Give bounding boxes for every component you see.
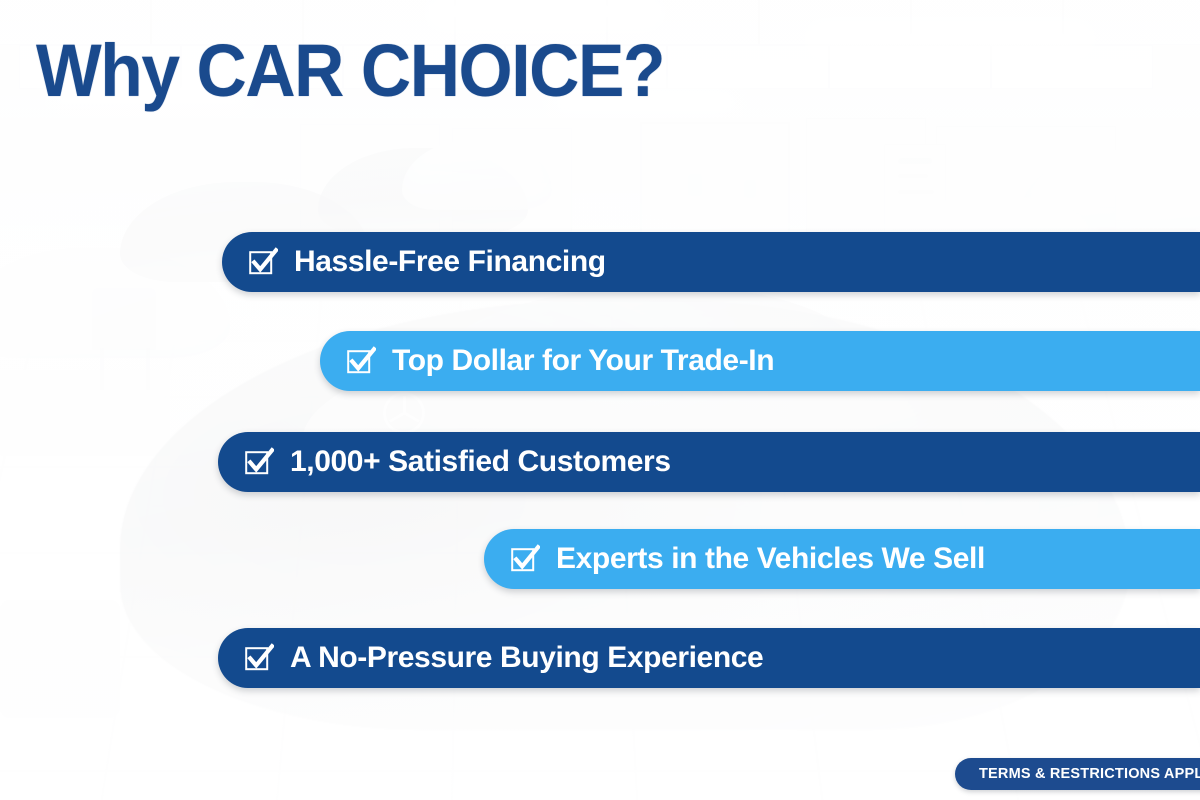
- feature-pill-satisfied-customers[interactable]: 1,000+ Satisfied Customers: [218, 432, 1200, 492]
- terms-label: TERMS & RESTRICTIONS APPLY: [979, 766, 1200, 782]
- checkbox-checked-icon: [244, 447, 274, 477]
- promo-banner: Why CAR CHOICE? Hassle-Free Financing To…: [0, 0, 1200, 800]
- checkbox-checked-icon: [244, 643, 274, 673]
- feature-pill-label: Top Dollar for Your Trade-In: [392, 346, 774, 376]
- feature-pill-no-pressure-buying[interactable]: A No-Pressure Buying Experience: [218, 628, 1200, 688]
- feature-pill-label: Hassle-Free Financing: [294, 247, 606, 277]
- feature-pill-label: A No-Pressure Buying Experience: [290, 643, 763, 673]
- feature-pill-label: 1,000+ Satisfied Customers: [290, 447, 671, 477]
- feature-pill-experts-in-vehicles[interactable]: Experts in the Vehicles We Sell: [484, 529, 1200, 589]
- checkbox-checked-icon: [346, 346, 376, 376]
- page-title: Why CAR CHOICE?: [36, 34, 664, 108]
- feature-pill-hassle-free-financing[interactable]: Hassle-Free Financing: [222, 232, 1200, 292]
- feature-pill-top-dollar-trade-in[interactable]: Top Dollar for Your Trade-In: [320, 331, 1200, 391]
- terms-and-restrictions-badge[interactable]: TERMS & RESTRICTIONS APPLY: [955, 758, 1200, 790]
- checkbox-checked-icon: [248, 247, 278, 277]
- feature-pill-label: Experts in the Vehicles We Sell: [556, 544, 985, 574]
- checkbox-checked-icon: [510, 544, 540, 574]
